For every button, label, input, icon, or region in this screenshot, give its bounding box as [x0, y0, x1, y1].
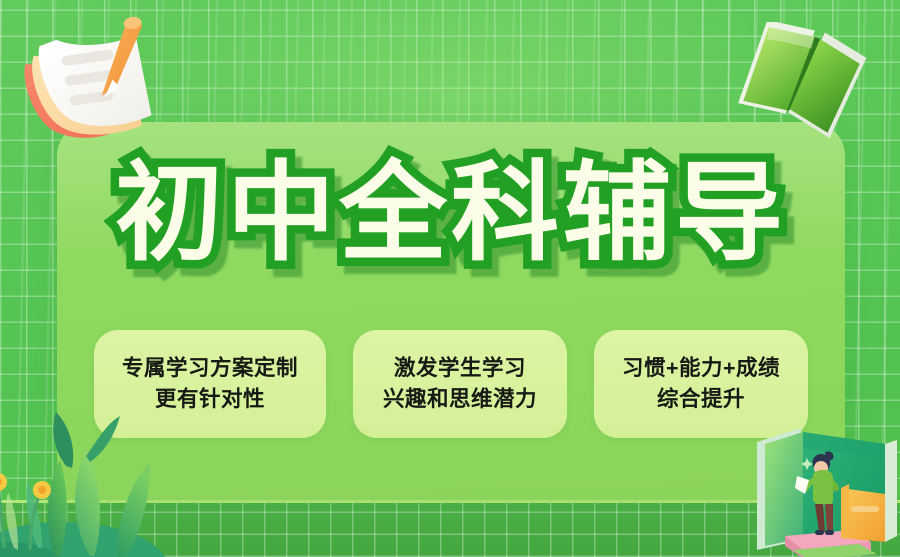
feature-box-2-line-1: 激发学生学习 [394, 358, 526, 380]
feature-box-3[interactable]: 习惯+能力+成绩 综合提升 [594, 330, 808, 438]
banner-canvas: 初中全科辅导 初中全科辅导 初中全科辅导 初中全科辅导 专属学习方案定制 更有针… [0, 0, 900, 557]
feature-box-1[interactable]: 专属学习方案定制 更有针对性 [94, 330, 326, 438]
feature-box-2[interactable]: 激发学生学习 兴趣和思维潜力 [353, 330, 567, 438]
title-fill-layer: 初中全科辅导 [115, 156, 787, 269]
feature-box-3-line-2: 综合提升 [657, 389, 745, 411]
feature-box-3-line-1: 习惯+能力+成绩 [622, 358, 780, 380]
background-bottom-band [0, 503, 900, 557]
feature-box-2-line-2: 兴趣和思维潜力 [383, 389, 537, 411]
feature-box-1-line-1: 专属学习方案定制 [122, 358, 298, 380]
title-stack: 初中全科辅导 初中全科辅导 初中全科辅导 初中全科辅导 [115, 156, 787, 269]
feature-box-list: 专属学习方案定制 更有针对性 激发学生学习 兴趣和思维潜力 习惯+能力+成绩 综… [57, 330, 845, 438]
page-title: 初中全科辅导 初中全科辅导 初中全科辅导 初中全科辅导 [57, 138, 845, 288]
feature-box-1-line-2: 更有针对性 [155, 389, 265, 411]
